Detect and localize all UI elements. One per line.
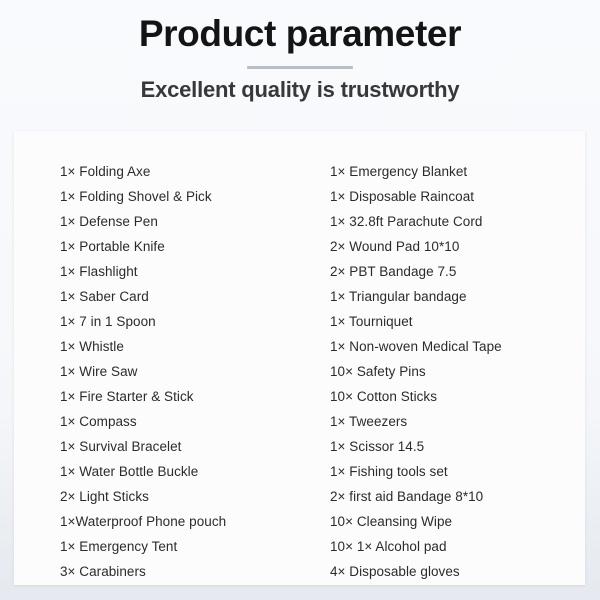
spec-list-item: 1× Emergency Tent — [60, 534, 330, 559]
page-subtitle: Excellent quality is trustworthy — [0, 77, 600, 103]
spec-card: 1× Folding Axe1× Folding Shovel & Pick1×… — [14, 131, 585, 585]
product-parameter-page: Product parameter Excellent quality is t… — [0, 0, 600, 600]
spec-list-item: 1× Disposable Raincoat — [330, 184, 585, 209]
spec-column-right: 1× Emergency Blanket1× Disposable Rainco… — [330, 131, 585, 585]
spec-list-item: 1× Folding Axe — [60, 159, 330, 184]
spec-list-item: 1× Whistle — [60, 334, 330, 359]
spec-list-item: 2× Light Sticks — [60, 484, 330, 509]
spec-list-item: 10× Cleansing Wipe — [330, 509, 585, 534]
spec-list-item: 1× Emergency Blanket — [330, 159, 585, 184]
spec-list-item: 1× Wire Saw — [60, 359, 330, 384]
spec-list-item: 4× Disposable gloves — [330, 559, 585, 584]
spec-list-item: 1× Non-woven Medical Tape — [330, 334, 585, 359]
spec-list-item: 1× Folding Shovel & Pick — [60, 184, 330, 209]
spec-list-item: 1× Fire Starter & Stick — [60, 384, 330, 409]
spec-list-item: 3× Carabiners — [60, 559, 330, 584]
spec-column-left: 1× Folding Axe1× Folding Shovel & Pick1×… — [14, 131, 330, 585]
spec-list-item: 1× Water Bottle Buckle — [60, 459, 330, 484]
spec-list-item: 1× 7 in 1 Spoon — [60, 309, 330, 334]
spec-list-item: 1× 32.8ft Parachute Cord — [330, 209, 585, 234]
spec-list-item: 2× PBT Bandage 7.5 — [330, 259, 585, 284]
spec-list-item: 1×Waterproof Phone pouch — [60, 509, 330, 534]
spec-list-item: 1× Portable Knife — [60, 234, 330, 259]
spec-list-item: 10× Safety Pins — [330, 359, 585, 384]
spec-list-item: 1× Scissor 14.5 — [330, 434, 585, 459]
spec-list-item: 10× Cotton Sticks — [330, 384, 585, 409]
spec-list-item: 1× Survival Bracelet — [60, 434, 330, 459]
page-title: Product parameter — [0, 14, 600, 55]
spec-list-item: 1× Fishing tools set — [330, 459, 585, 484]
spec-columns: 1× Folding Axe1× Folding Shovel & Pick1×… — [14, 131, 585, 585]
spec-list-item: 1× Saber Card — [60, 284, 330, 309]
spec-list-item: 1× Tourniquet — [330, 309, 585, 334]
title-divider — [247, 66, 353, 69]
spec-list-item: 2× Wound Pad 10*10 — [330, 234, 585, 259]
spec-list-item: 1× Flashlight — [60, 259, 330, 284]
spec-list-left: 1× Folding Axe1× Folding Shovel & Pick1×… — [60, 159, 330, 584]
spec-list-item: 2× first aid Bandage 8*10 — [330, 484, 585, 509]
spec-list-item: 1× Tweezers — [330, 409, 585, 434]
page-header: Product parameter Excellent quality is t… — [0, 0, 600, 103]
spec-list-item: 1× Compass — [60, 409, 330, 434]
spec-list-item: 1× Defense Pen — [60, 209, 330, 234]
spec-list-item: 1× Triangular bandage — [330, 284, 585, 309]
spec-list-right: 1× Emergency Blanket1× Disposable Rainco… — [330, 159, 585, 584]
spec-list-item: 10× 1× Alcohol pad — [330, 534, 585, 559]
